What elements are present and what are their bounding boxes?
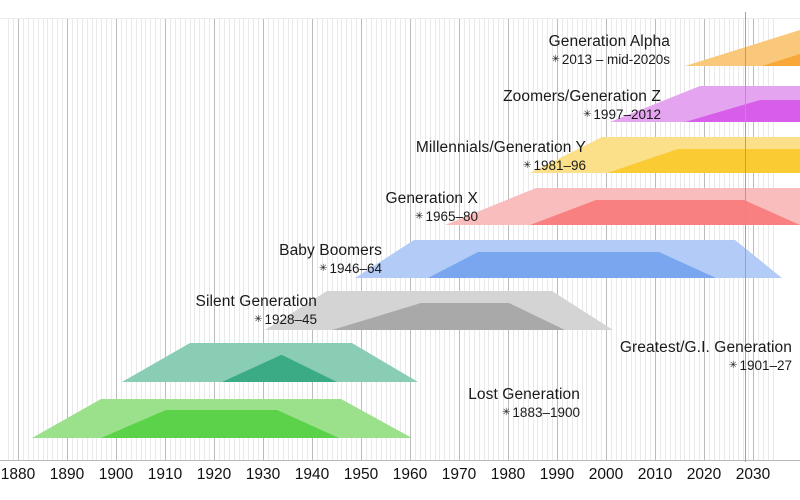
gridline-minor: [243, 18, 244, 460]
gridline-minor: [645, 18, 646, 460]
x-tick-2000: 2000: [589, 466, 623, 484]
gridline-major: [606, 18, 607, 460]
gridline-minor: [689, 18, 690, 460]
gridline-minor: [8, 18, 9, 460]
birth-star-icon: ✳: [254, 314, 264, 325]
gridline-minor: [180, 18, 181, 460]
gridline-minor: [111, 18, 112, 460]
gridline-minor: [719, 18, 720, 460]
gridline-major: [67, 18, 68, 460]
gridline-minor: [209, 18, 210, 460]
plot-top-border: [0, 18, 800, 19]
gridline-minor: [724, 18, 725, 460]
x-tick-2030: 2030: [736, 466, 770, 484]
label-greatest-years: ✳1901–27: [620, 357, 792, 374]
gridline-minor: [292, 18, 293, 460]
x-tick-1880: 1880: [1, 466, 35, 484]
x-tick-1930: 1930: [246, 466, 280, 484]
gridline-minor: [400, 18, 401, 460]
gridline-minor: [773, 18, 774, 460]
gridline-minor: [611, 18, 612, 460]
gridline-minor: [341, 18, 342, 460]
label-alpha-years: ✳2013 – mid-2020s: [549, 51, 670, 68]
gridline-minor: [337, 18, 338, 460]
gridline-major: [704, 18, 705, 460]
gridline-minor: [327, 18, 328, 460]
gridline-minor: [72, 18, 73, 460]
gridline-minor: [768, 18, 769, 460]
x-tick-1940: 1940: [295, 466, 329, 484]
gridline-minor: [748, 18, 749, 460]
gridline-minor: [101, 18, 102, 460]
gridline-minor: [435, 18, 436, 460]
birth-star-icon: ✳: [523, 160, 533, 171]
gridline-minor: [302, 18, 303, 460]
gridline-minor: [283, 18, 284, 460]
gridline-minor: [288, 18, 289, 460]
gridline-minor: [150, 18, 151, 460]
gridline-minor: [729, 18, 730, 460]
label-generation-z: Zoomers/Generation Z ✳1997–2012: [503, 87, 661, 123]
gridline-minor: [126, 18, 127, 460]
label-z-years: ✳1997–2012: [503, 106, 661, 123]
label-y-years: ✳1981–96: [416, 157, 586, 174]
gridline-minor: [57, 18, 58, 460]
gridline-major: [753, 18, 754, 460]
x-tick-1970: 1970: [442, 466, 476, 484]
gridline-minor: [322, 18, 323, 460]
birth-star-icon: ✳: [319, 263, 329, 274]
gridline-minor: [621, 18, 622, 460]
plot-area: [0, 18, 800, 460]
gridline-major: [410, 18, 411, 460]
gridline-major: [361, 18, 362, 460]
gridline-major: [116, 18, 117, 460]
gridline-major: [18, 18, 19, 460]
gridline-minor: [278, 18, 279, 460]
gridline-minor: [675, 18, 676, 460]
gridline-minor: [185, 18, 186, 460]
gridline-minor: [253, 18, 254, 460]
gridline-minor: [52, 18, 53, 460]
label-boomers-name: Baby Boomers: [279, 241, 382, 260]
x-tick-1920: 1920: [197, 466, 231, 484]
gridline-minor: [386, 18, 387, 460]
gridline-minor: [194, 18, 195, 460]
label-lost-generation: Lost Generation ✳1883–1900: [468, 385, 580, 421]
gridline-minor: [199, 18, 200, 460]
gridline-minor: [405, 18, 406, 460]
gridline-minor: [106, 18, 107, 460]
gridline-minor: [665, 18, 666, 460]
x-axis-line: [0, 460, 800, 461]
gridline-minor: [425, 18, 426, 460]
gridline-minor: [121, 18, 122, 460]
gridline-minor: [591, 18, 592, 460]
label-generation-y: Millennials/Generation Y ✳1981–96: [416, 138, 586, 174]
gridline-minor: [366, 18, 367, 460]
gridline-minor: [229, 18, 230, 460]
gridline-minor: [430, 18, 431, 460]
gridline-minor: [640, 18, 641, 460]
gridline-minor: [449, 18, 450, 460]
x-tick-1890: 1890: [50, 466, 84, 484]
gridline-minor: [170, 18, 171, 460]
gridline-minor: [395, 18, 396, 460]
gridline-minor: [586, 18, 587, 460]
gridline-minor: [444, 18, 445, 460]
label-silent-name: Silent Generation: [196, 292, 317, 311]
birth-star-icon: ✳: [502, 407, 512, 418]
gridline-minor: [92, 18, 93, 460]
gridline-minor: [136, 18, 137, 460]
x-tick-2010: 2010: [638, 466, 672, 484]
gridline-minor: [332, 18, 333, 460]
gridline-minor: [390, 18, 391, 460]
label-silent-years: ✳1928–45: [196, 311, 317, 328]
gridline-minor: [190, 18, 191, 460]
gridline-minor: [346, 18, 347, 460]
gridline-minor: [699, 18, 700, 460]
label-alpha-name: Generation Alpha: [549, 32, 670, 51]
gridline-minor: [733, 18, 734, 460]
gridline-minor: [743, 18, 744, 460]
gridlines: [0, 18, 800, 460]
label-z-name: Zoomers/Generation Z: [503, 87, 661, 106]
gridline-minor: [660, 18, 661, 460]
label-boomers-years: ✳1946–64: [279, 260, 382, 277]
x-tick-1960: 1960: [393, 466, 427, 484]
gridline-minor: [175, 18, 176, 460]
birth-star-icon: ✳: [583, 109, 593, 120]
gridline-minor: [376, 18, 377, 460]
x-tick-1980: 1980: [491, 466, 525, 484]
gridline-minor: [596, 18, 597, 460]
gridline-major: [459, 18, 460, 460]
gridline-minor: [155, 18, 156, 460]
label-lost-years: ✳1883–1900: [468, 404, 580, 421]
gridline-minor: [694, 18, 695, 460]
gridline-major: [165, 18, 166, 460]
gridline-minor: [317, 18, 318, 460]
gridline-minor: [616, 18, 617, 460]
gridline-minor: [439, 18, 440, 460]
gridline-minor: [23, 18, 24, 460]
gridline-minor: [381, 18, 382, 460]
gridline-major: [655, 18, 656, 460]
x-tick-1900: 1900: [99, 466, 133, 484]
generations-timeline-chart: Generation Alpha ✳2013 – mid-2020s Zoome…: [0, 0, 800, 500]
birth-star-icon: ✳: [552, 54, 562, 65]
gridline-minor: [234, 18, 235, 460]
gridline-minor: [141, 18, 142, 460]
gridline-minor: [239, 18, 240, 460]
birth-star-icon: ✳: [729, 360, 739, 371]
gridline-minor: [273, 18, 274, 460]
gridline-minor: [204, 18, 205, 460]
birth-star-icon: ✳: [415, 211, 425, 222]
label-silent-generation: Silent Generation ✳1928–45: [196, 292, 317, 328]
gridline-minor: [145, 18, 146, 460]
x-axis-tick-labels: 1880189019001910192019301940195019601970…: [0, 466, 800, 496]
gridline-minor: [160, 18, 161, 460]
gridline-minor: [307, 18, 308, 460]
gridline-minor: [582, 18, 583, 460]
gridline-major: [312, 18, 313, 460]
gridline-minor: [626, 18, 627, 460]
gridline-minor: [77, 18, 78, 460]
label-greatest-generation: Greatest/G.I. Generation ✳1901–27: [620, 338, 792, 374]
gridline-minor: [224, 18, 225, 460]
gridline-minor: [131, 18, 132, 460]
gridline-minor: [82, 18, 83, 460]
gridline-minor: [763, 18, 764, 460]
gridline-minor: [356, 18, 357, 460]
gridline-minor: [248, 18, 249, 460]
gridline-major: [263, 18, 264, 460]
gridline-minor: [13, 18, 14, 460]
gridline-minor: [454, 18, 455, 460]
gridline-minor: [420, 18, 421, 460]
gridline-minor: [709, 18, 710, 460]
gridline-minor: [38, 18, 39, 460]
gridline-minor: [738, 18, 739, 460]
x-tick-2020: 2020: [687, 466, 721, 484]
label-generation-x: Generation X ✳1965–80: [385, 189, 478, 225]
label-greatest-name: Greatest/G.I. Generation: [620, 338, 792, 357]
gridline-minor: [47, 18, 48, 460]
gridline-minor: [33, 18, 34, 460]
gridline-minor: [758, 18, 759, 460]
gridline-minor: [601, 18, 602, 460]
gridline-minor: [415, 18, 416, 460]
label-baby-boomers: Baby Boomers ✳1946–64: [279, 241, 382, 277]
gridline-minor: [714, 18, 715, 460]
label-x-name: Generation X: [385, 189, 478, 208]
gridline-minor: [28, 18, 29, 460]
gridline-minor: [219, 18, 220, 460]
gridline-minor: [464, 18, 465, 460]
gridline-minor: [87, 18, 88, 460]
gridline-minor: [670, 18, 671, 460]
gridline-minor: [371, 18, 372, 460]
gridline-minor: [635, 18, 636, 460]
label-y-name: Millennials/Generation Y: [416, 138, 586, 157]
gridline-minor: [258, 18, 259, 460]
x-tick-1950: 1950: [344, 466, 378, 484]
gridline-minor: [297, 18, 298, 460]
gridline-minor: [62, 18, 63, 460]
label-generation-alpha: Generation Alpha ✳2013 – mid-2020s: [549, 32, 670, 68]
gridline-minor: [631, 18, 632, 460]
gridline-major: [214, 18, 215, 460]
gridline-minor: [684, 18, 685, 460]
today-marker-line: [745, 12, 746, 462]
label-lost-name: Lost Generation: [468, 385, 580, 404]
gridline-minor: [268, 18, 269, 460]
gridline-minor: [351, 18, 352, 460]
x-tick-1910: 1910: [148, 466, 182, 484]
label-x-years: ✳1965–80: [385, 208, 478, 225]
x-tick-1990: 1990: [540, 466, 574, 484]
gridline-minor: [650, 18, 651, 460]
gridline-minor: [680, 18, 681, 460]
gridline-minor: [96, 18, 97, 460]
gridline-minor: [43, 18, 44, 460]
